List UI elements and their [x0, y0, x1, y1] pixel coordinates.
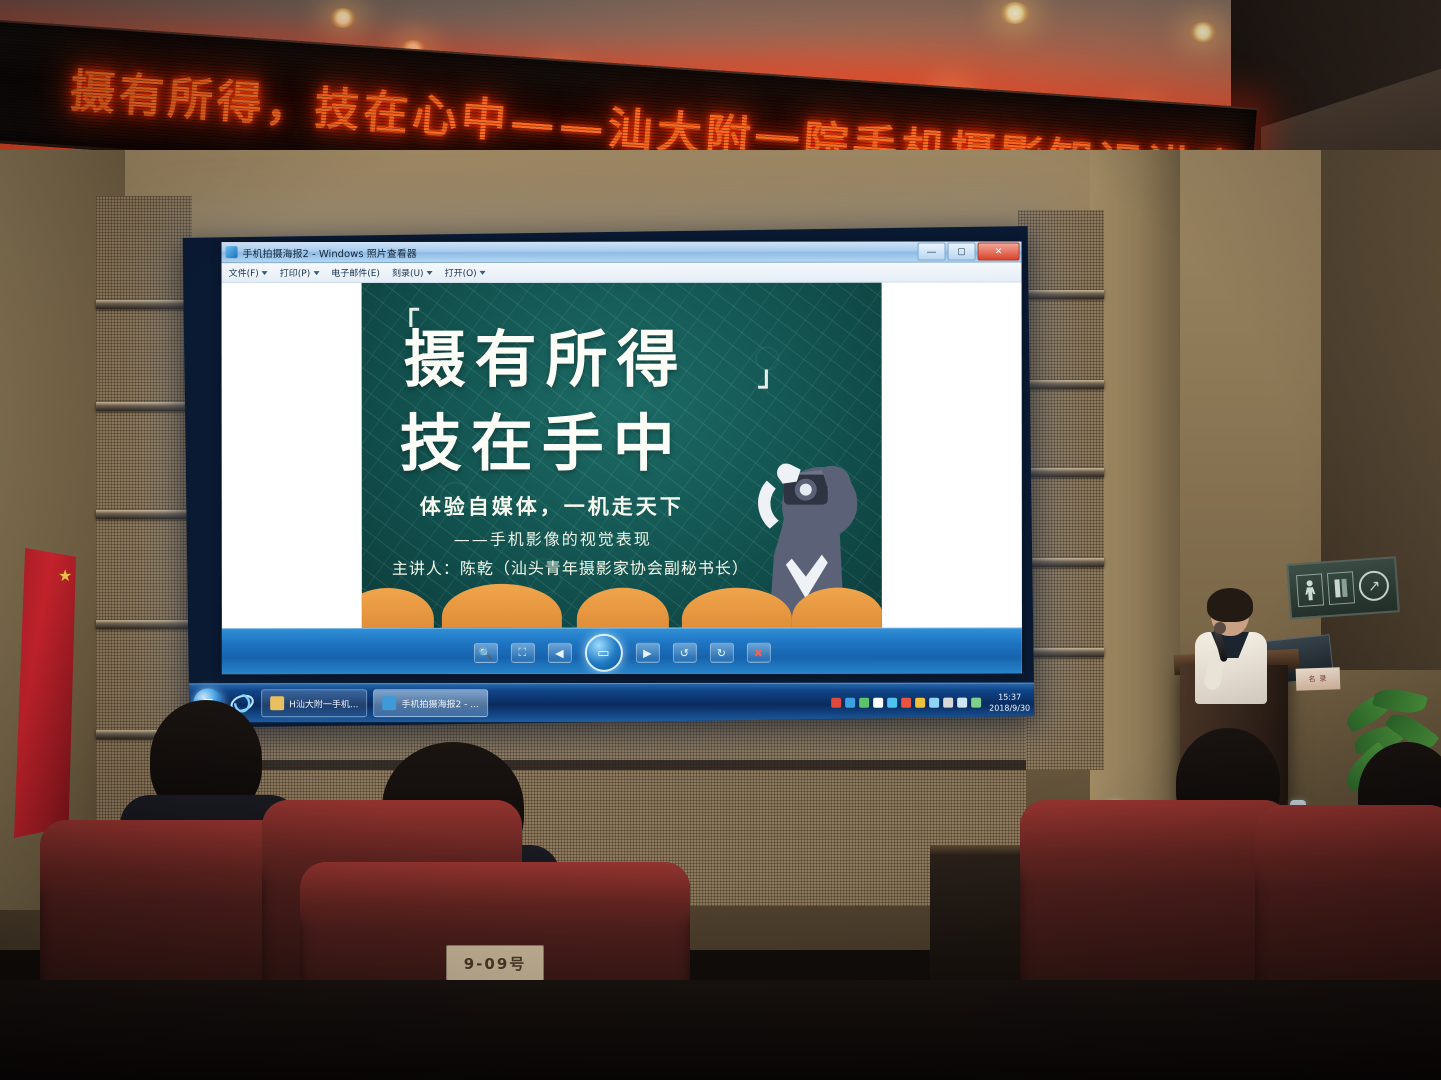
poster-subtitle-2: ——手机影像的视觉表现 — [454, 526, 652, 550]
metal-strip — [96, 402, 192, 411]
poster-image: 「 」 摄有所得 技在手中 体验自媒体，一机走天下 ——手机影像的视觉表现 主讲… — [362, 283, 882, 628]
menu-item-4[interactable]: 刻录(U) — [392, 266, 433, 279]
monitor-icon[interactable] — [971, 698, 981, 708]
name-card: 名 录 — [1296, 667, 1341, 691]
s-icon[interactable] — [831, 698, 841, 708]
rotate-left-icon[interactable]: ↺ — [672, 643, 696, 663]
tray-icon-group[interactable] — [831, 698, 981, 708]
close-button[interactable]: ✕ — [978, 242, 1020, 260]
window-title: 手机拍摄海报2 - Windows 照片查看器 — [243, 244, 417, 259]
menu-item-label: 刻录(U) — [392, 266, 424, 279]
exit-arrow-icon: ↗ — [1358, 570, 1390, 602]
taskbar-clock[interactable]: 15:37 2018/9/30 — [989, 692, 1030, 714]
rotate-right-icon[interactable]: ↻ — [709, 643, 733, 663]
downlight-3 — [1190, 22, 1216, 42]
photo-viewer-toolbar[interactable]: 🔍⛶◀▭▶↺↻✖ — [222, 627, 1022, 674]
cloud-icon[interactable] — [887, 698, 897, 708]
floor — [0, 980, 1441, 1080]
alert-icon[interactable] — [901, 698, 911, 708]
close-icon: ✕ — [995, 246, 1003, 257]
bracket-close: 」 — [758, 355, 786, 395]
menu-item-label: 打印(P) — [280, 266, 310, 279]
chevron-down-icon — [313, 271, 319, 275]
maximize-icon: ▢ — [957, 246, 966, 257]
wall-trim-strip — [186, 760, 1026, 770]
info-icon[interactable] — [873, 698, 883, 708]
projection-screen: 手机拍摄海报2 - Windows 照片查看器 — ▢ ✕ 文件(F)打印(P)… — [183, 226, 1035, 728]
metal-strip — [1018, 380, 1104, 389]
poster-subtitle-1: 体验自媒体，一机走天下 — [420, 491, 684, 521]
metal-strip — [96, 300, 192, 309]
menu-item-5[interactable]: 打开(O) — [445, 266, 486, 279]
metal-strip — [96, 620, 192, 629]
taskbar-button-label: 手机拍摄海报2 - ... — [402, 697, 479, 710]
shield-icon[interactable] — [845, 698, 855, 708]
zoom-icon[interactable]: 🔍 — [473, 643, 497, 663]
microphone-head — [1214, 622, 1226, 634]
flag-star-icon: ★ — [58, 566, 72, 586]
minimize-button[interactable]: — — [918, 243, 946, 261]
taskbar-button-2[interactable]: 手机拍摄海报2 - ... — [373, 689, 487, 717]
exit-sign: ↗ — [1286, 556, 1400, 620]
taskbar-button-icon — [270, 696, 284, 710]
menu-item-label: 文件(F) — [229, 266, 259, 279]
seat-backrest-top — [40, 820, 290, 898]
menu-item-1[interactable]: 文件(F) — [229, 266, 268, 279]
poster-presenter: 主讲人：陈乾（汕头青年摄影家协会副秘书长） — [392, 555, 749, 579]
exit-pictogram-2 — [1327, 571, 1355, 605]
metal-strip — [96, 510, 192, 519]
seat-number-plate: 9-09号 — [446, 945, 544, 981]
window-titlebar[interactable]: 手机拍摄海报2 - Windows 照片查看器 — ▢ ✕ — [222, 241, 1022, 263]
photo-viewer-icon — [226, 246, 238, 258]
actual-size-icon[interactable]: ⛶ — [510, 643, 534, 663]
chevron-down-icon — [262, 271, 268, 275]
volume-icon[interactable] — [957, 698, 967, 708]
menu-item-3[interactable]: 电子邮件(E) — [331, 266, 380, 279]
sync-icon[interactable] — [859, 698, 869, 708]
taskbar-button-1[interactable]: H汕大附一手机... — [261, 689, 367, 717]
exit-pictogram-1 — [1296, 573, 1324, 607]
slideshow-icon[interactable]: ▭ — [584, 634, 622, 672]
speaker — [1185, 592, 1275, 702]
seat-backrest-top — [300, 862, 690, 927]
taskbar-button-icon — [383, 696, 397, 710]
menu-item-label: 电子邮件(E) — [331, 266, 380, 279]
clock-time: 15:37 — [989, 692, 1030, 703]
chevron-down-icon — [427, 270, 433, 274]
photo-viewer-window[interactable]: 手机拍摄海报2 - Windows 照片查看器 — ▢ ✕ 文件(F)打印(P)… — [222, 241, 1022, 674]
name-card-text: 名 录 — [1308, 674, 1327, 685]
metal-strip — [1018, 290, 1104, 299]
downlight-1 — [330, 8, 356, 28]
speaker-hair — [1207, 588, 1253, 622]
lecture-hall-photo: 摄有所得，技在心中——汕大附一院手机摄影知识讲座 手机拍摄海报2 - Windo… — [0, 0, 1441, 1080]
network-icon[interactable] — [929, 698, 939, 708]
poster-title-line-2: 技在手中 — [400, 393, 684, 483]
clock-date: 2018/9/30 — [989, 703, 1030, 714]
taskbar-task-buttons[interactable]: H汕大附一手机...手机拍摄海报2 - ... — [261, 689, 488, 717]
seat-backrest-top — [1020, 800, 1290, 884]
downlight-2 — [1000, 2, 1030, 24]
chat-icon[interactable] — [915, 698, 925, 708]
maximize-button[interactable]: ▢ — [948, 243, 976, 261]
next-icon[interactable]: ▶ — [635, 643, 659, 663]
menu-bar[interactable]: 文件(F)打印(P)电子邮件(E)刻录(U)打开(O) — [222, 262, 1022, 283]
system-tray[interactable]: 15:37 2018/9/30 — [831, 684, 1030, 722]
delete-icon[interactable]: ✖ — [746, 643, 770, 663]
image-canvas: 「 」 摄有所得 技在手中 体验自媒体，一机走天下 ——手机影像的视觉表现 主讲… — [222, 282, 1022, 628]
chevron-down-icon — [480, 270, 486, 274]
minimize-icon: — — [927, 247, 936, 257]
window-controls[interactable]: — ▢ ✕ — [918, 242, 1020, 260]
menu-item-2[interactable]: 打印(P) — [280, 266, 319, 279]
poster-title-line-1: 摄有所得 — [404, 309, 688, 399]
media-icon[interactable] — [943, 698, 953, 708]
previous-icon[interactable]: ◀ — [547, 643, 571, 663]
poster-orange-shapes — [362, 586, 882, 628]
windows-taskbar[interactable]: ⊞ H汕大附一手机...手机拍摄海报2 - ... 15:37 2018/9/3… — [189, 683, 1034, 723]
seat-backrest-top — [1255, 805, 1441, 888]
menu-item-label: 打开(O) — [445, 266, 477, 279]
taskbar-button-label: H汕大附一手机... — [289, 697, 358, 710]
